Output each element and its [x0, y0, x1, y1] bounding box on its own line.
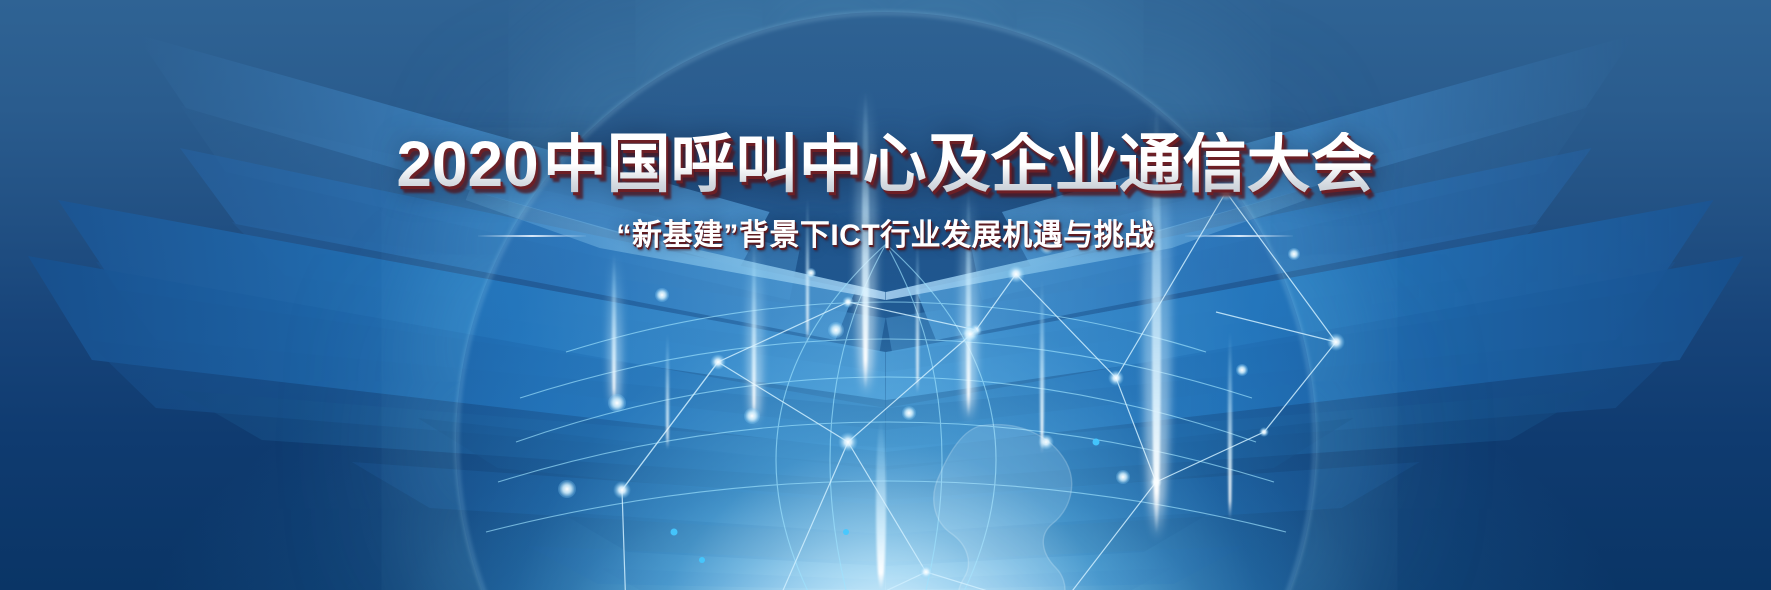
spark-dot — [806, 268, 816, 278]
light-beam — [608, 250, 622, 412]
spark-dot — [744, 408, 760, 424]
spark-dot — [902, 406, 916, 420]
conference-banner: 2020中国呼叫中心及企业通信大会 “新基建”背景下ICT行业发展机遇与挑战 — [0, 0, 1771, 590]
light-beam — [916, 238, 919, 394]
banner-text-block: 2020中国呼叫中心及企业通信大会 “新基建”背景下ICT行业发展机遇与挑战 — [0, 0, 1771, 251]
spark-dot — [1236, 364, 1248, 376]
left-rule-divider — [478, 235, 586, 237]
subtitle-row: “新基建”背景下ICT行业发展机遇与挑战 — [0, 221, 1771, 251]
spark-dot — [558, 480, 576, 498]
page-subtitle: “新基建”背景下ICT行业发展机遇与挑战 — [616, 221, 1154, 251]
right-rule-divider — [1185, 235, 1293, 237]
spark-dot — [1116, 470, 1130, 484]
spark-dot — [962, 326, 978, 342]
title-chinese: 中国呼叫中心及企业通信大会 — [543, 128, 1375, 200]
light-beam — [876, 420, 886, 590]
spark-dot — [608, 394, 626, 412]
title-year: 2020 — [396, 128, 538, 200]
light-beam — [747, 236, 763, 428]
light-beam — [666, 332, 669, 450]
light-beam — [1228, 330, 1232, 520]
spark-dot — [828, 322, 844, 338]
spark-dot — [655, 288, 669, 302]
page-title: 2020中国呼叫中心及企业通信大会 — [0, 132, 1771, 196]
light-beam — [1040, 278, 1044, 454]
